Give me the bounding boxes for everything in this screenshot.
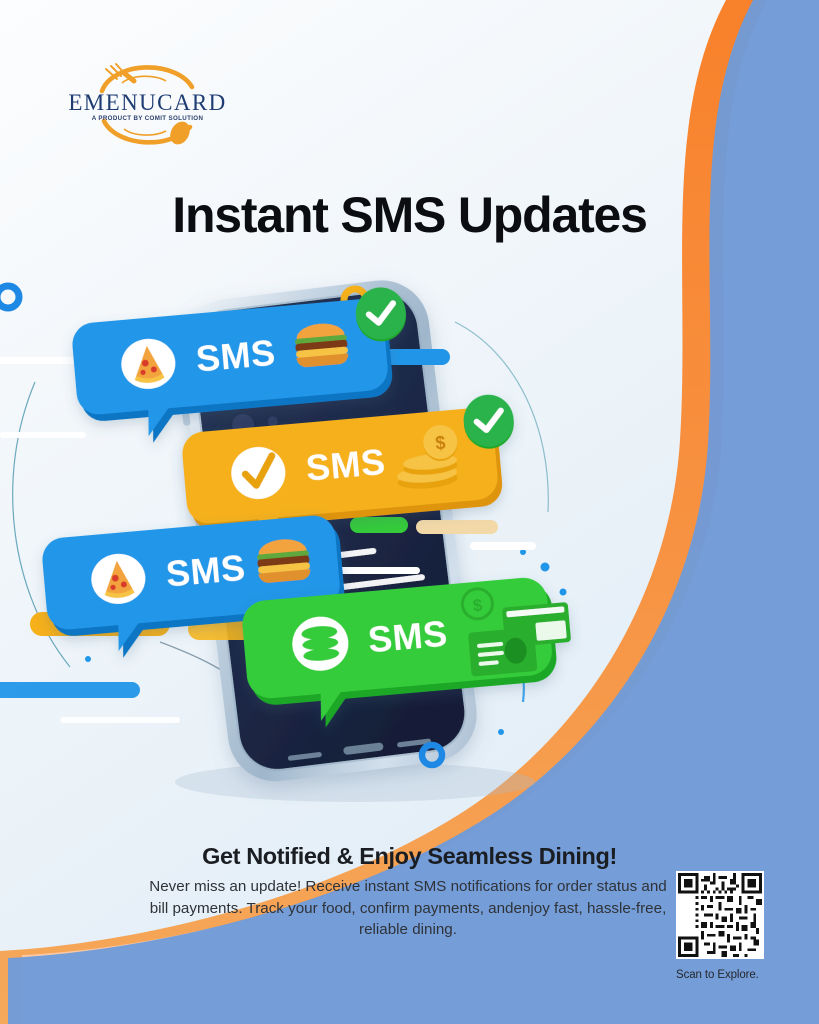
- brand-tagline: A PRODUCT BY COMIT SOLUTION: [60, 116, 235, 122]
- footer-body: Never miss an update! Receive instant SM…: [148, 876, 668, 941]
- poster-canvas: EMENUCARD A PRODUCT BY COMIT SOLUTION In…: [0, 0, 819, 1024]
- page-title: Instant SMS Updates: [0, 189, 819, 242]
- brand-logo: EMENUCARD A PRODUCT BY COMIT SOLUTION: [60, 55, 235, 155]
- qr-code[interactable]: [676, 871, 764, 959]
- blue-ring-icon: [0, 286, 19, 308]
- svg-text:$: $: [435, 433, 447, 454]
- svg-text:SMS: SMS: [164, 547, 247, 595]
- hero-illustration: SMS: [0, 262, 680, 822]
- svg-text:SMS: SMS: [304, 441, 387, 489]
- qr-caption: Scan to Explore.: [676, 969, 772, 981]
- brand-name: EMENUCARD: [60, 91, 235, 114]
- qr-block: Scan to Explore.: [676, 871, 776, 981]
- svg-text:SMS: SMS: [366, 613, 449, 661]
- footer-headline: Get Notified & Enjoy Seamless Dining!: [0, 843, 819, 870]
- svg-text:SMS: SMS: [194, 332, 277, 380]
